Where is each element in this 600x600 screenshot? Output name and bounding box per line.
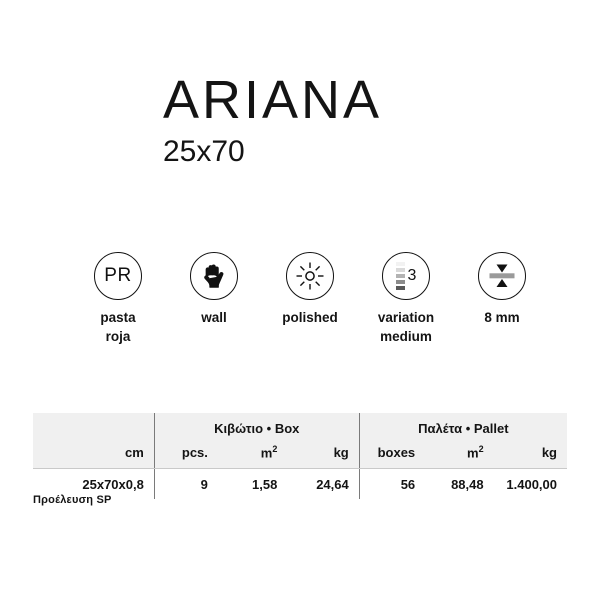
feature-label-wall: wall (201, 309, 227, 328)
cell-box-pcs: 9 (154, 469, 218, 500)
feature-variation: 3 variation medium (358, 252, 454, 346)
box-m2-unit: m (261, 445, 273, 460)
column-header-pallet-kg: kg (494, 440, 567, 469)
hand-wall-icon (190, 252, 238, 300)
box-m2-exponent: 2 (272, 444, 277, 454)
column-header-cm: cm (33, 440, 154, 469)
column-header-pallet-boxes: boxes (359, 440, 425, 469)
feature-wall: wall (166, 252, 262, 328)
variation-level-text: 3 (408, 267, 417, 285)
thickness-icon (478, 252, 526, 300)
pallet-m2-exponent: 2 (479, 444, 484, 454)
shade-gradient-bars (396, 262, 405, 291)
feature-thickness: 8 mm (454, 252, 550, 328)
shade-variation-icon: 3 (382, 252, 430, 300)
column-header-box-kg: kg (287, 440, 359, 469)
group-header-box: Κιβώτιο • Box (154, 413, 359, 440)
column-header-box-pcs: pcs. (154, 440, 218, 469)
specification-table: Κιβώτιο • Box Παλέτα • Pallet cm pcs. m2… (33, 413, 567, 499)
page-title: ARIANA 25x70 (163, 72, 382, 169)
group-header-pallet: Παλέτα • Pallet (359, 413, 567, 440)
cell-pallet-kg: 1.400,00 (494, 469, 567, 500)
cell-pallet-boxes: 56 (359, 469, 425, 500)
group-header-blank (33, 413, 154, 440)
product-size: 25x70 (163, 135, 382, 169)
column-header-pallet-m2: m2 (425, 440, 493, 469)
table-header: Κιβώτιο • Box Παλέτα • Pallet cm pcs. m2… (33, 413, 567, 469)
cell-box-m2: 1,58 (218, 469, 287, 500)
origin-note: Προέλευση SP (33, 494, 112, 506)
table-body: 25x70x0,8 9 1,58 24,64 56 88,48 1.400,00 (33, 469, 567, 500)
feature-icon-row: PR pasta roja wall (70, 252, 550, 346)
feature-pasta-roja: PR pasta roja (70, 252, 166, 346)
pallet-m2-unit: m (467, 445, 479, 460)
feature-label-variation: variation medium (378, 309, 434, 346)
product-name: ARIANA (163, 72, 382, 129)
cell-pallet-m2: 88,48 (425, 469, 493, 500)
table-row: 25x70x0,8 9 1,58 24,64 56 88,48 1.400,00 (33, 469, 567, 500)
sun-polished-icon (286, 252, 334, 300)
feature-label-polished: polished (282, 309, 338, 328)
table-group-header-row: Κιβώτιο • Box Παλέτα • Pallet (33, 413, 567, 440)
cell-box-kg: 24,64 (287, 469, 359, 500)
feature-label-pasta-roja: pasta roja (100, 309, 135, 346)
column-header-box-m2: m2 (218, 440, 287, 469)
pasta-roja-badge-text: PR (104, 265, 131, 287)
pasta-roja-icon: PR (94, 252, 142, 300)
feature-label-thickness: 8 mm (484, 309, 519, 328)
table-column-header-row: cm pcs. m2 kg boxes m2 kg (33, 440, 567, 469)
feature-polished: polished (262, 252, 358, 328)
